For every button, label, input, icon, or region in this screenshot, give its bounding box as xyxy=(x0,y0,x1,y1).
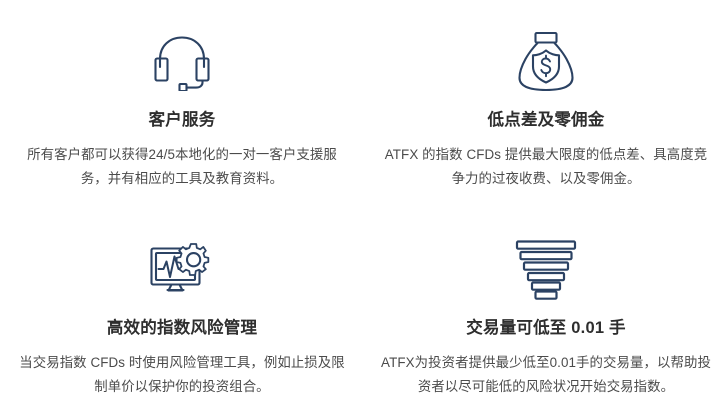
headset-icon xyxy=(144,26,220,98)
feature-description: 所有客户都可以获得24/5本地化的一对一客户支援服务，并有相应的工具及教育资料。 xyxy=(17,143,347,190)
feature-title: 高效的指数风险管理 xyxy=(107,318,257,339)
feature-title: 低点差及零佣金 xyxy=(488,110,605,131)
feature-description: ATFX 的指数 CFDs 提供最大限度的低点差、具高度竞争力的过夜收费、以及零… xyxy=(381,143,711,190)
feature-description: ATFX为投资者提供最少低至0.01手的交易量，以帮助投资者以尽可能低的风险状况… xyxy=(381,351,711,398)
features-grid: 客户服务 所有客户都可以获得24/5本地化的一对一客户支援服务，并有相应的工具及… xyxy=(0,0,728,413)
feature-card-customer-service: 客户服务 所有客户都可以获得24/5本地化的一对一客户支援服务，并有相应的工具及… xyxy=(0,0,364,206)
funnel-bars-icon xyxy=(508,234,584,306)
feature-card-low-spread: 低点差及零佣金 ATFX 的指数 CFDs 提供最大限度的低点差、具高度竞争力的… xyxy=(364,0,728,206)
money-bag-shield-dollar-icon xyxy=(508,26,584,98)
monitor-chart-gear-icon xyxy=(144,234,220,306)
feature-description: 当交易指数 CFDs 时使用风险管理工具，例如止损及限制单价以保护你的投资组合。 xyxy=(17,351,347,398)
feature-title: 交易量可低至 0.01 手 xyxy=(466,318,625,339)
feature-card-risk-management: 高效的指数风险管理 当交易指数 CFDs 时使用风险管理工具，例如止损及限制单价… xyxy=(0,206,364,413)
feature-card-min-lot: 交易量可低至 0.01 手 ATFX为投资者提供最少低至0.01手的交易量，以帮… xyxy=(364,206,728,413)
feature-title: 客户服务 xyxy=(149,110,216,131)
